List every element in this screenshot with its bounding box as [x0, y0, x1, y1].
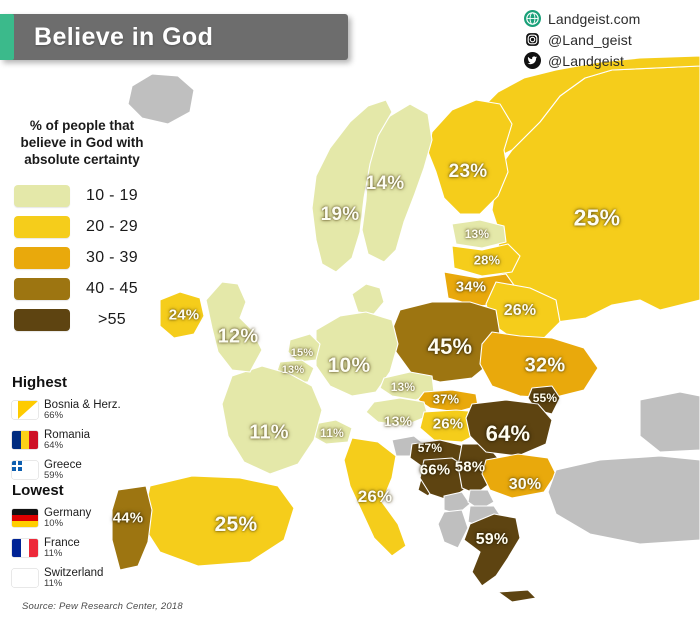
highest-item-romania: Romania 64%	[12, 425, 162, 455]
lowest-value-switzerland: 11%	[44, 579, 103, 589]
social-handle-instagram: @Land_geist	[548, 32, 632, 48]
page-title: Believe in God	[14, 23, 213, 52]
region-caucasus	[640, 392, 700, 452]
highest-item-bosnia: Bosnia & Herz. 66%	[12, 395, 162, 425]
region-denmark	[352, 284, 384, 314]
switzerland-flag	[12, 569, 38, 587]
lowest-item-france: France 11%	[12, 533, 162, 563]
legend-row-20-29: 20 - 29	[8, 212, 168, 243]
legend-label-10-19: 10 - 19	[70, 187, 154, 205]
bosnia-flag	[12, 401, 38, 419]
title-accent-bar	[0, 14, 14, 60]
region-spain	[142, 476, 294, 566]
legend-swatch-40-45	[14, 278, 70, 300]
legend-row-over-55: >55	[8, 305, 168, 336]
region-netherlands	[288, 334, 320, 362]
social-link-twitter[interactable]: @Landgeist	[524, 50, 694, 71]
legend-row-40-45: 40 - 45	[8, 274, 168, 305]
legend-swatch-20-29	[14, 216, 70, 238]
highest-value-bosnia: 66%	[44, 411, 121, 421]
region-greece-crete	[498, 590, 536, 602]
lowest-value-germany: 10%	[44, 519, 91, 529]
region-turkey	[548, 456, 700, 544]
region-estonia	[452, 220, 506, 248]
highest-value-romania: 64%	[44, 441, 90, 451]
legend-label-over-55: >55	[70, 311, 154, 329]
instagram-icon	[524, 31, 541, 48]
social-handle-website: Landgeist.com	[548, 11, 640, 27]
region-albania	[438, 510, 468, 548]
lowest-heading: Lowest	[12, 482, 162, 499]
lowest-item-germany: Germany 10%	[12, 503, 162, 533]
legend: % of people that believe in God with abs…	[8, 118, 168, 336]
source-note: Source: Pew Research Center, 2018	[22, 601, 183, 612]
region-austria	[366, 398, 428, 426]
lowest-item-switzerland: Switzerland 11%	[12, 563, 162, 593]
region-latvia	[452, 244, 520, 276]
legend-title: % of people that believe in God with abs…	[8, 118, 156, 169]
germany-flag	[12, 509, 38, 527]
legend-label-40-45: 40 - 45	[70, 280, 154, 298]
social-handle-twitter: @Landgeist	[548, 53, 624, 69]
infographic-root: .c0 { fill:#e4e8a9; } /* 10-19 */ .c1 { …	[0, 0, 700, 630]
social-link-website[interactable]: Landgeist.com	[524, 8, 694, 29]
title-banner: Believe in God	[0, 14, 348, 60]
highest-list: Highest Bosnia & Herz. 66% Romania 64%	[12, 374, 162, 485]
legend-swatch-10-19	[14, 185, 70, 207]
legend-label-30-39: 30 - 39	[70, 249, 154, 267]
legend-row-10-19: 10 - 19	[8, 181, 168, 212]
region-bulgaria	[482, 454, 556, 498]
twitter-icon	[524, 52, 541, 69]
highest-heading: Highest	[12, 374, 162, 391]
legend-swatch-30-39	[14, 247, 70, 269]
legend-label-20-29: 20 - 29	[70, 218, 154, 236]
romania-flag	[12, 431, 38, 449]
globe-icon	[524, 10, 541, 27]
legend-items: 10 - 19 20 - 29 30 - 39 40 - 45 >55	[8, 181, 168, 336]
legend-row-30-39: 30 - 39	[8, 243, 168, 274]
legend-swatch-over-55	[14, 309, 70, 331]
highest-item-greece: Greece 59%	[12, 455, 162, 485]
social-links: Landgeist.com @Land_geist @Landgeist	[524, 8, 694, 71]
lowest-list: Lowest Germany 10% France 11% Switzerlan…	[12, 482, 162, 593]
region-uk	[206, 282, 262, 372]
region-slovakia	[418, 390, 478, 412]
social-link-instagram[interactable]: @Land_geist	[524, 29, 694, 50]
greece-flag	[12, 461, 38, 479]
region-iceland	[128, 74, 194, 124]
region-greece	[464, 514, 520, 586]
france-flag	[12, 539, 38, 557]
lowest-value-france: 11%	[44, 549, 80, 559]
highest-value-greece: 59%	[44, 471, 82, 481]
